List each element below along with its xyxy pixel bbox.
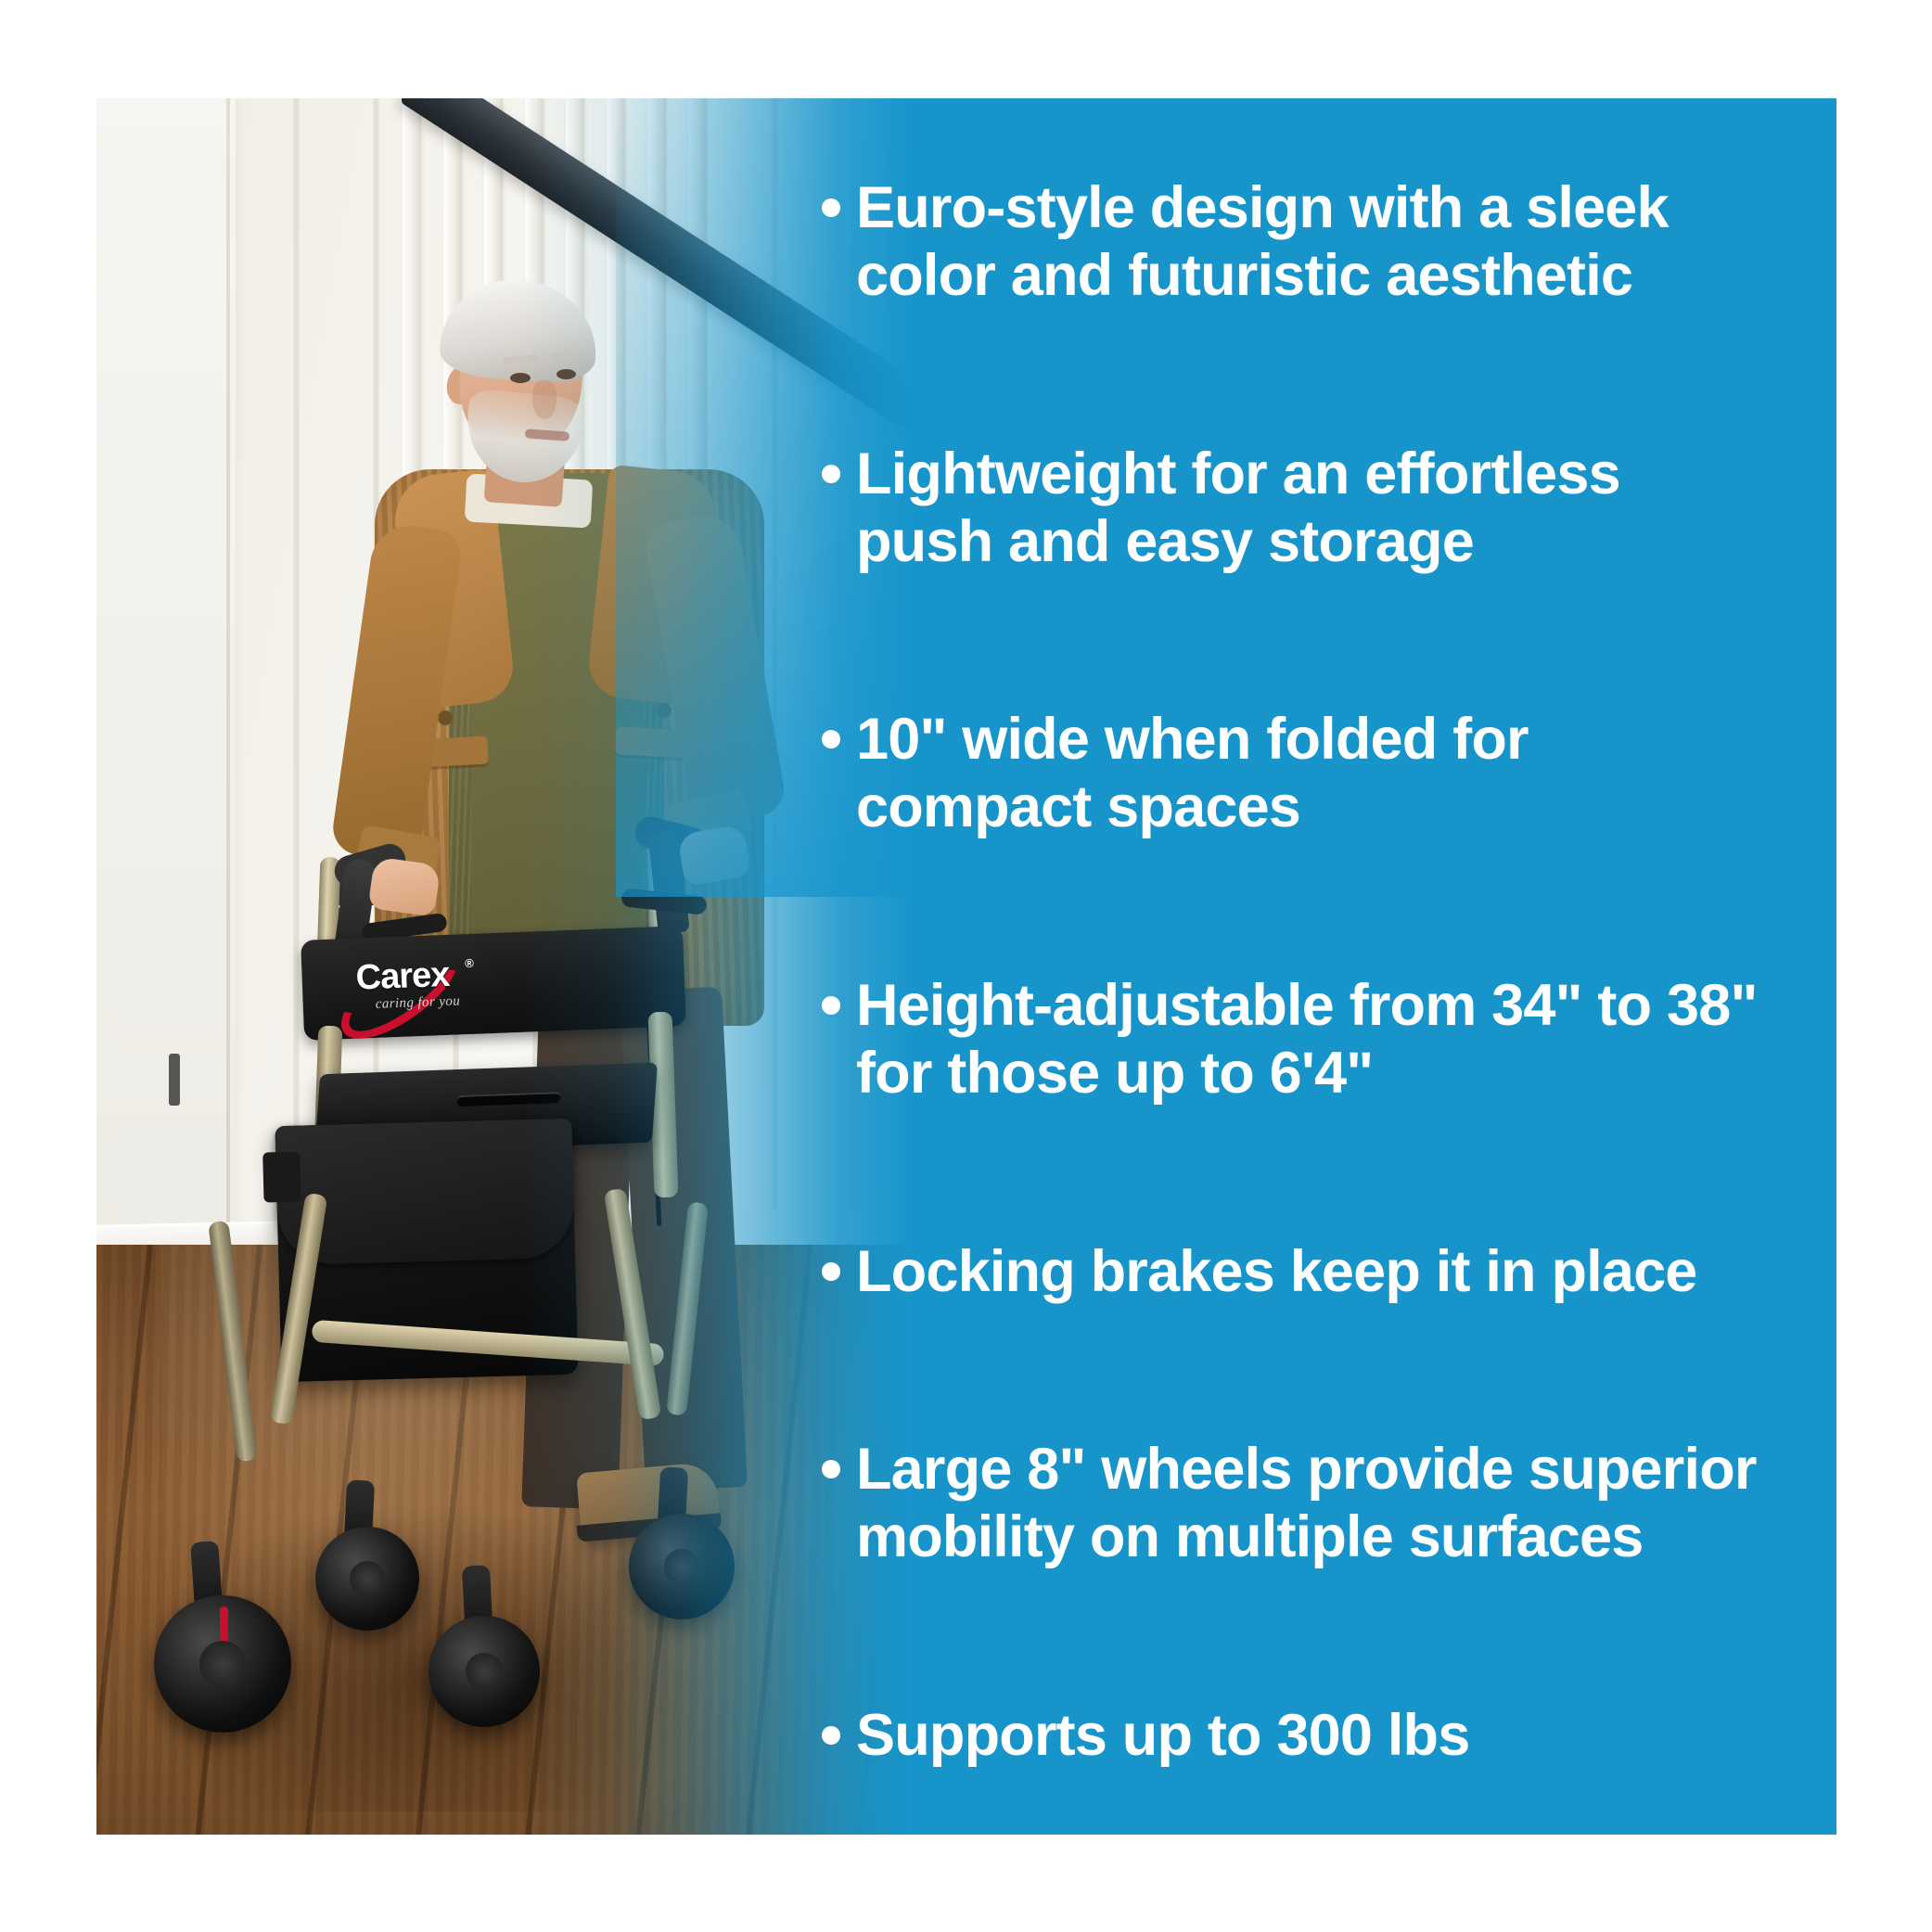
- frame-leg-left-rear: [208, 1221, 258, 1463]
- page-canvas: Carex ® caring for you: [0, 0, 1932, 1932]
- bullet-dot-icon: [822, 1460, 840, 1478]
- feature-bullet-list: Euro-style design with a sleek color and…: [822, 174, 1796, 1770]
- seat-handle-slot: [456, 1092, 561, 1107]
- hand-left: [367, 856, 441, 916]
- feature-bullet-text: 10" wide when folded for compact spaces: [856, 706, 1770, 841]
- bullet-dot-icon: [822, 198, 840, 217]
- feature-bullet-euro-style-design: Euro-style design with a sleek color and…: [822, 174, 1796, 310]
- wheel-hub: [199, 1641, 246, 1687]
- storage-bag-strap: [262, 1152, 301, 1203]
- bullet-dot-icon: [822, 1262, 840, 1281]
- bullet-dot-icon: [822, 1726, 840, 1745]
- wheel-right-front: [429, 1616, 540, 1727]
- wheel-left-rear: [315, 1527, 419, 1631]
- feature-bullet-text: Large 8" wheels provide superior mobilit…: [856, 1436, 1770, 1571]
- bullet-dot-icon: [822, 730, 840, 748]
- backrest-panel: Carex ® caring for you: [301, 926, 686, 1041]
- product-lifestyle-photo: Carex ® caring for you: [96, 98, 913, 1835]
- feature-bullet-folded-width: 10" wide when folded for compact spaces: [822, 706, 1796, 841]
- feature-bullet-text: Height-adjustable from 34" to 38" for th…: [856, 972, 1770, 1107]
- feature-bullet-text: Euro-style design with a sleek color and…: [856, 174, 1770, 310]
- wheel-hub: [664, 1549, 700, 1585]
- bullet-dot-icon: [822, 996, 840, 1015]
- frame-leg-right-rear: [666, 1201, 709, 1415]
- registered-trademark-icon: ®: [465, 956, 474, 970]
- carex-tagline: caring for you: [375, 993, 460, 1012]
- feature-bullet-large-wheels: Large 8" wheels provide superior mobilit…: [822, 1436, 1796, 1571]
- feature-bullet-text: Locking brakes keep it in place: [856, 1238, 1697, 1306]
- carex-wordmark: Carex: [355, 957, 450, 996]
- frame-leg-right-front: [604, 1188, 662, 1421]
- feature-bullet-locking-brakes: Locking brakes keep it in place: [822, 1238, 1796, 1306]
- feature-bullet-height-adjustable: Height-adjustable from 34" to 38" for th…: [822, 972, 1796, 1107]
- feature-bullet-text: Supports up to 300 lbs: [856, 1702, 1469, 1770]
- rollator-walker: Carex ® caring for you: [96, 98, 913, 1835]
- carex-logo: Carex ® caring for you: [329, 949, 508, 1024]
- wheel-left-front: [154, 1595, 291, 1733]
- wheel-hub: [466, 1653, 504, 1691]
- bullet-dot-icon: [822, 465, 840, 483]
- wheel-right-rear: [629, 1514, 735, 1619]
- feature-bullet-lightweight: Lightweight for an effortless push and e…: [822, 441, 1796, 576]
- wheel-hub: [350, 1561, 385, 1596]
- feature-bullet-text: Lightweight for an effortless push and e…: [856, 441, 1770, 576]
- feature-card: Carex ® caring for you: [96, 98, 1836, 1835]
- feature-bullet-weight-capacity: Supports up to 300 lbs: [822, 1702, 1796, 1770]
